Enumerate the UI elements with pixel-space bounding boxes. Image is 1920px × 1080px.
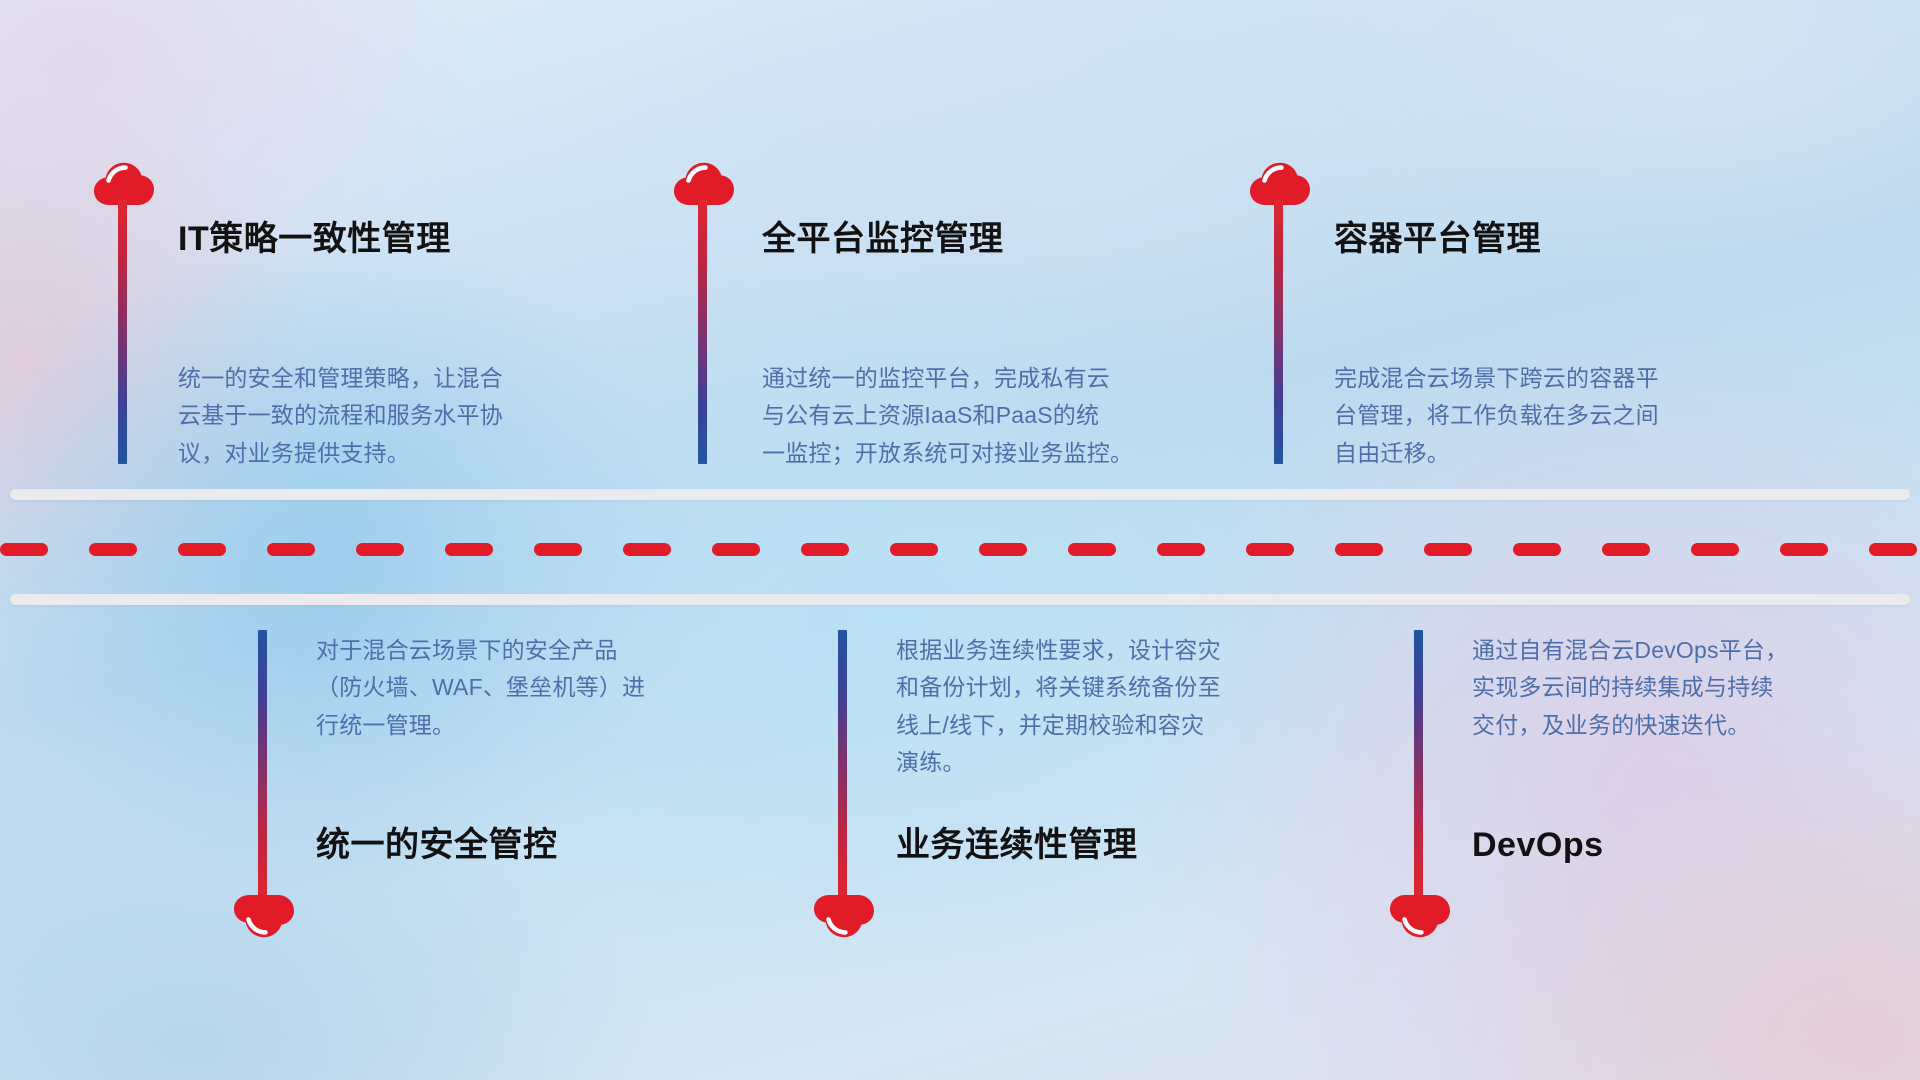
heading-business-continuity: 业务连续性管理 bbox=[896, 828, 1138, 862]
heading-container-platform: 容器平台管理 bbox=[1334, 222, 1541, 256]
road-dash-segment bbox=[1691, 543, 1739, 556]
pole-bottom-3 bbox=[1414, 630, 1423, 896]
pole-bottom-2 bbox=[838, 630, 847, 896]
body-unified-security-control: 对于混合云场景下的安全产品 （防火墙、WAF、堡垒机等）进 行统一管理。 bbox=[316, 632, 756, 744]
road-dash-segment bbox=[1424, 543, 1472, 556]
cloud-icon-bottom-3 bbox=[1388, 892, 1452, 940]
road-dash-segment bbox=[1246, 543, 1294, 556]
body-full-platform-monitoring: 通过统一的监控平台，完成私有云 与公有云上资源IaaS和PaaS的统 一监控；开… bbox=[762, 360, 1232, 472]
road-dash-segment bbox=[1513, 543, 1561, 556]
heading-devops: DevOps bbox=[1472, 828, 1604, 862]
pole-top-1 bbox=[118, 200, 127, 464]
road-dash-segment bbox=[623, 543, 671, 556]
road-dashed-line bbox=[0, 543, 1920, 556]
body-container-platform: 完成混合云场景下跨云的容器平 台管理，将工作负载在多云之间 自由迁移。 bbox=[1334, 360, 1784, 472]
road-dash-segment bbox=[0, 543, 48, 556]
heading-it-policy-consistency: IT策略一致性管理 bbox=[178, 222, 451, 256]
road-dash-segment bbox=[801, 543, 849, 556]
body-devops: 通过自有混合云DevOps平台， 实现多云间的持续集成与持续 交付，及业务的快速… bbox=[1472, 632, 1902, 744]
road-rail-top bbox=[10, 489, 1910, 500]
road-dash-segment bbox=[979, 543, 1027, 556]
road-dash-segment bbox=[445, 543, 493, 556]
pole-top-2 bbox=[698, 200, 707, 464]
road-dash-segment bbox=[890, 543, 938, 556]
road-rail-bottom bbox=[10, 594, 1910, 605]
heading-full-platform-monitoring: 全平台监控管理 bbox=[762, 222, 1004, 256]
pole-bottom-1 bbox=[258, 630, 267, 896]
road-dash-segment bbox=[356, 543, 404, 556]
cloud-icon-bottom-2 bbox=[812, 892, 876, 940]
road-dash-segment bbox=[1780, 543, 1828, 556]
body-business-continuity: 根据业务连续性要求，设计容灾 和备份计划，将关键系统备份至 线上/线下，并定期校… bbox=[896, 632, 1336, 781]
road-dash-segment bbox=[267, 543, 315, 556]
road-dash-segment bbox=[712, 543, 760, 556]
pole-top-3 bbox=[1274, 200, 1283, 464]
road-dash-segment bbox=[89, 543, 137, 556]
road-dash-segment bbox=[1869, 543, 1917, 556]
road-dash-segment bbox=[178, 543, 226, 556]
road-dash-segment bbox=[1602, 543, 1650, 556]
road-dash-segment bbox=[534, 543, 582, 556]
road-dash-segment bbox=[1157, 543, 1205, 556]
body-it-policy-consistency: 统一的安全和管理策略，让混合 云基于一致的流程和服务水平协 议，对业务提供支持。 bbox=[178, 360, 618, 472]
cloud-icon-bottom-1 bbox=[232, 892, 296, 940]
road-dash-segment bbox=[1335, 543, 1383, 556]
heading-unified-security-control: 统一的安全管控 bbox=[316, 828, 558, 862]
infographic-stage: IT策略一致性管理 统一的安全和管理策略，让混合 云基于一致的流程和服务水平协 … bbox=[0, 0, 1920, 1080]
road-dash-segment bbox=[1068, 543, 1116, 556]
